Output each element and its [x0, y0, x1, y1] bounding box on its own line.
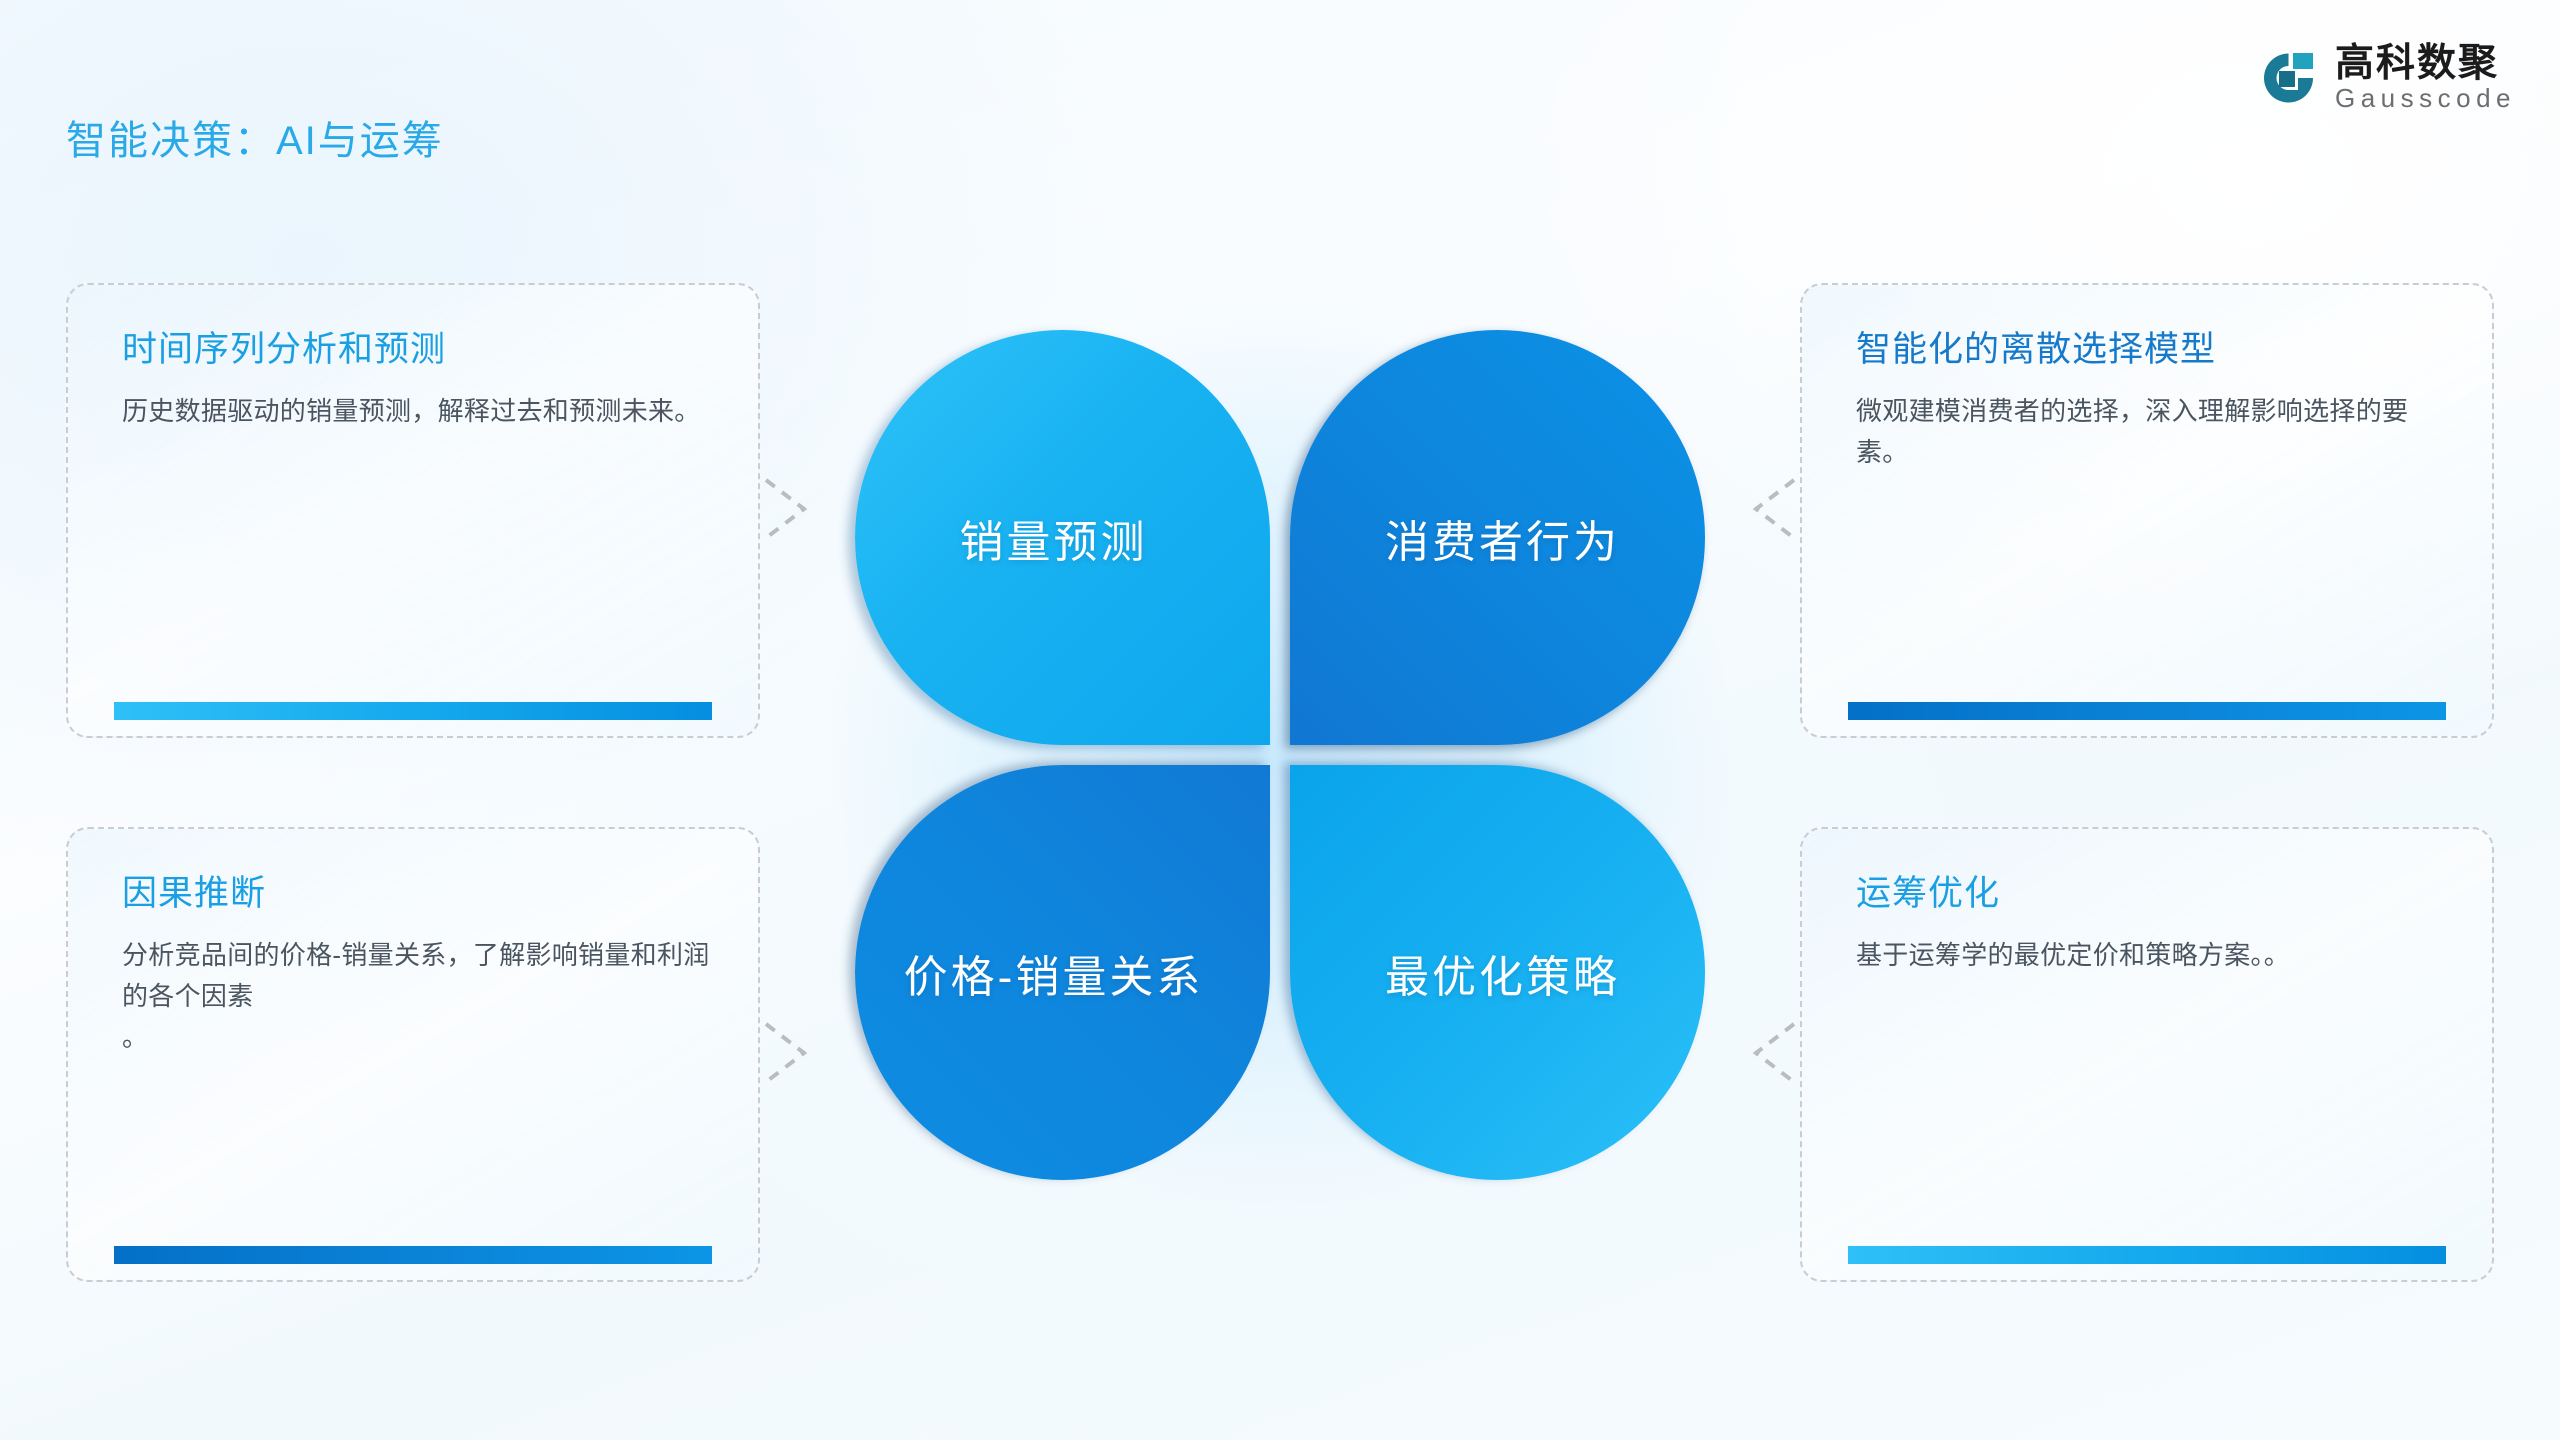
connector-chevron-icon — [760, 472, 814, 546]
gausscode-logo-icon — [2257, 47, 2319, 109]
card-content: 运筹优化 基于运筹学的最优定价和策略方案。。 — [1856, 873, 2446, 976]
petal-consumer-behavior[interactable]: 消费者行为 — [1290, 330, 1705, 745]
feature-card-causal-inference[interactable]: 因果推断 分析竞品间的价格-销量关系，了解影响销量和利润的各个因素 。 — [66, 827, 760, 1282]
slide-canvas: 智能决策：AI与运筹 高科数聚 Gausscode 时间序列分析和预测 历史数据… — [0, 0, 2560, 1440]
card-content: 时间序列分析和预测 历史数据驱动的销量预测，解释过去和预测未来。 — [122, 329, 712, 432]
card-accent-bar — [1848, 1246, 2446, 1264]
clover-diagram: 销量预测 消费者行为 价格-销量关系 最优化策略 — [855, 330, 1705, 1180]
brand-logo: 高科数聚 Gausscode — [2257, 44, 2516, 111]
petal-label: 最优化策略 — [1385, 941, 1620, 1005]
petal-optimization-strategy[interactable]: 最优化策略 — [1290, 765, 1705, 1180]
card-body: 历史数据驱动的销量预测，解释过去和预测未来。 — [122, 391, 712, 432]
petal-price-volume-relation[interactable]: 价格-销量关系 — [855, 765, 1270, 1180]
petal-sales-forecast[interactable]: 销量预测 — [855, 330, 1270, 745]
card-accent-bar — [114, 1246, 712, 1264]
logo-name-en: Gausscode — [2335, 85, 2516, 111]
card-content: 因果推断 分析竞品间的价格-销量关系，了解影响销量和利润的各个因素 。 — [122, 873, 712, 1058]
page-title: 智能决策：AI与运筹 — [66, 108, 444, 166]
connector-chevron-icon — [1746, 1016, 1800, 1090]
card-title: 运筹优化 — [1856, 873, 2446, 915]
card-title: 因果推断 — [122, 873, 712, 915]
logo-name-cn: 高科数聚 — [2335, 44, 2516, 83]
card-body: 分析竞品间的价格-销量关系，了解影响销量和利润的各个因素 。 — [122, 935, 712, 1058]
feature-card-time-series[interactable]: 时间序列分析和预测 历史数据驱动的销量预测，解释过去和预测未来。 — [66, 283, 760, 738]
card-title: 时间序列分析和预测 — [122, 329, 712, 371]
feature-card-operations-research[interactable]: 运筹优化 基于运筹学的最优定价和策略方案。。 — [1800, 827, 2494, 1282]
card-title: 智能化的离散选择模型 — [1856, 329, 2446, 371]
card-body: 微观建模消费者的选择，深入理解影响选择的要素。 — [1856, 391, 2446, 473]
card-content: 智能化的离散选择模型 微观建模消费者的选择，深入理解影响选择的要素。 — [1856, 329, 2446, 473]
feature-card-discrete-choice[interactable]: 智能化的离散选择模型 微观建模消费者的选择，深入理解影响选择的要素。 — [1800, 283, 2494, 738]
petal-label: 消费者行为 — [1385, 506, 1620, 570]
petal-label: 价格-销量关系 — [904, 941, 1204, 1005]
connector-chevron-icon — [1746, 472, 1800, 546]
connector-chevron-icon — [760, 1016, 814, 1090]
card-body: 基于运筹学的最优定价和策略方案。。 — [1856, 935, 2446, 976]
card-accent-bar — [1848, 702, 2446, 720]
petal-label: 销量预测 — [960, 506, 1148, 570]
card-accent-bar — [114, 702, 712, 720]
logo-wordmark: 高科数聚 Gausscode — [2335, 44, 2516, 111]
